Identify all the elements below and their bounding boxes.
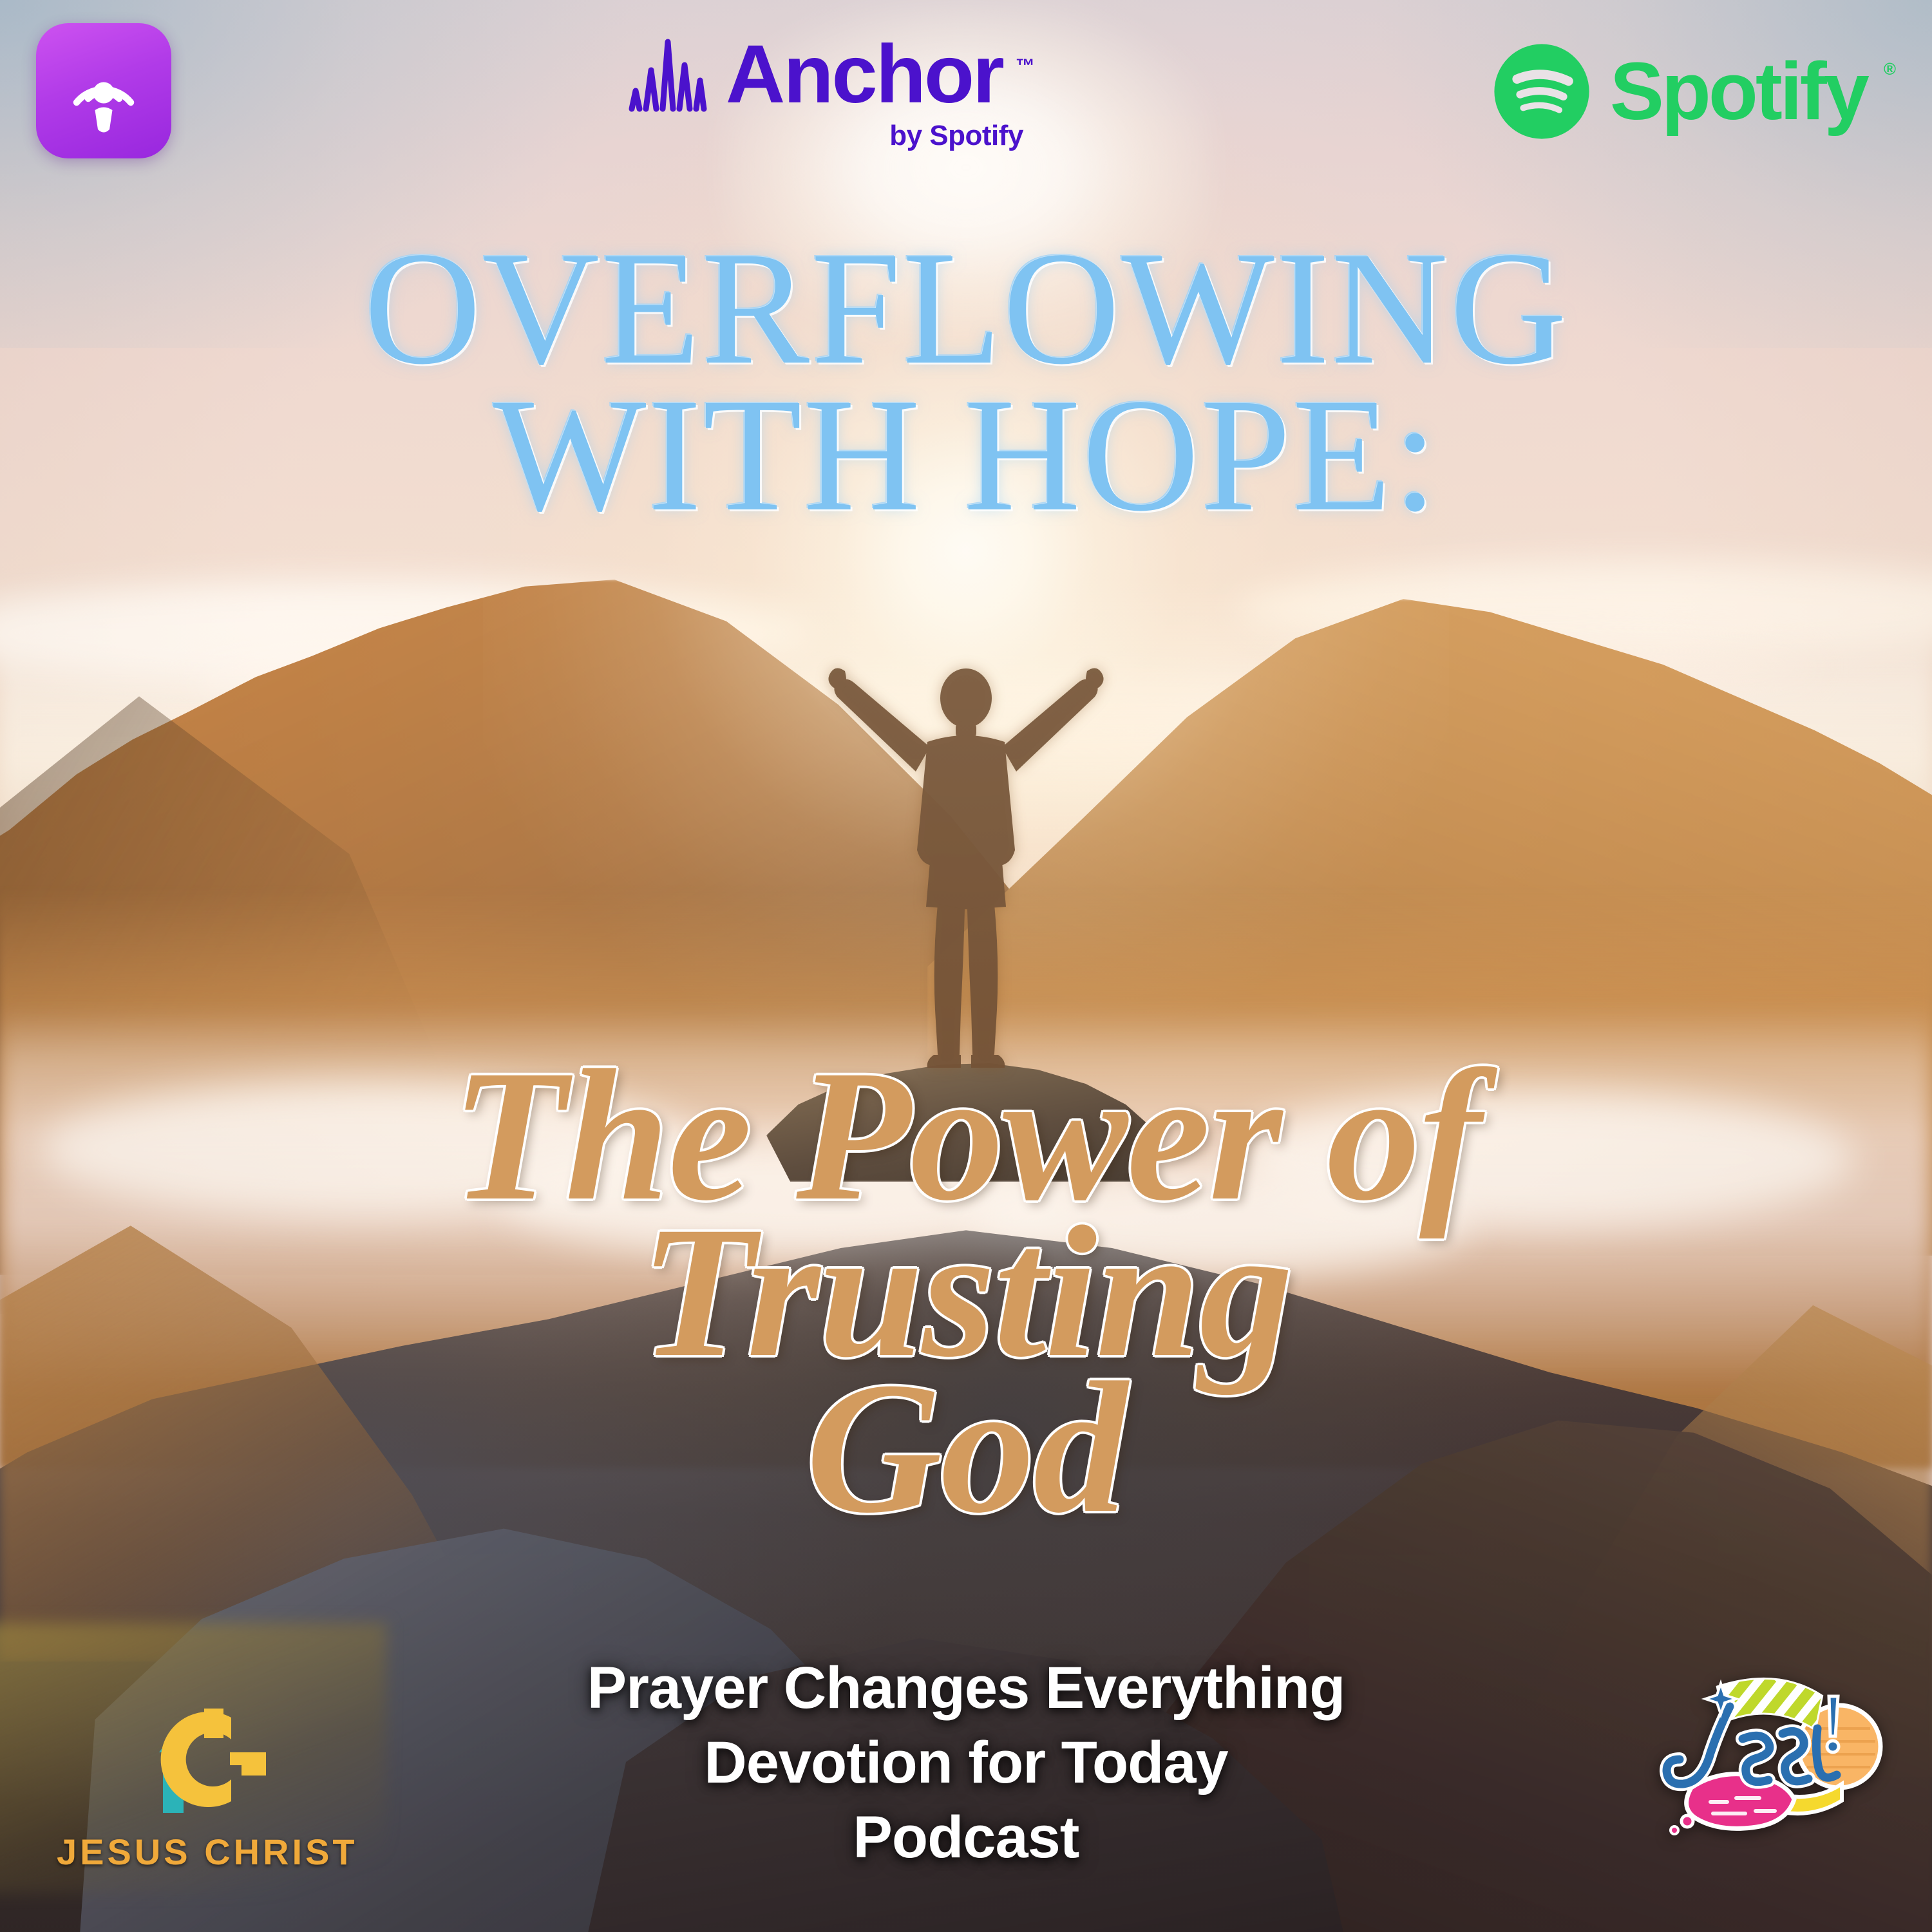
spotify-badge[interactable]: Spotify ® <box>1490 40 1896 143</box>
jesus-christ-emblem: JESUS CHRIST <box>57 1698 358 1873</box>
spotify-trademark: ® <box>1884 59 1896 79</box>
script-title-line-3: God <box>0 1362 1932 1535</box>
apple-podcasts-badge[interactable] <box>36 23 171 158</box>
headline-line-1: OVERFLOWING <box>0 231 1932 386</box>
jesus-sticker-logo <box>1649 1662 1893 1855</box>
script-title: The Power of Trusting God <box>0 1050 1932 1535</box>
anchor-wordmark: Anchor <box>726 33 1003 116</box>
jesus-christ-monogram-icon <box>133 1698 281 1827</box>
podcast-cover-art: Anchor ™ by Spotify Spotify ® OVE <box>0 0 1932 1932</box>
anchor-byline: by Spotify <box>889 120 1023 152</box>
anchor-badge[interactable]: Anchor ™ by Spotify <box>627 33 1035 152</box>
apple-podcasts-icon <box>55 43 152 139</box>
jesus-christ-label: JESUS CHRIST <box>57 1831 358 1873</box>
anchor-waveform-icon <box>627 37 712 113</box>
anchor-trademark: ™ <box>1016 55 1035 77</box>
headline: OVERFLOWING WITH HOPE: <box>0 231 1932 533</box>
headline-line-2: WITH HOPE: <box>0 377 1932 533</box>
anchor-wordmark-row: Anchor ™ <box>627 33 1035 116</box>
spotify-icon <box>1490 40 1593 143</box>
platform-badge-row: Anchor ™ by Spotify Spotify ® <box>0 0 1932 193</box>
man-silhouette <box>799 657 1133 1082</box>
spotify-wordmark: Spotify <box>1610 51 1867 132</box>
